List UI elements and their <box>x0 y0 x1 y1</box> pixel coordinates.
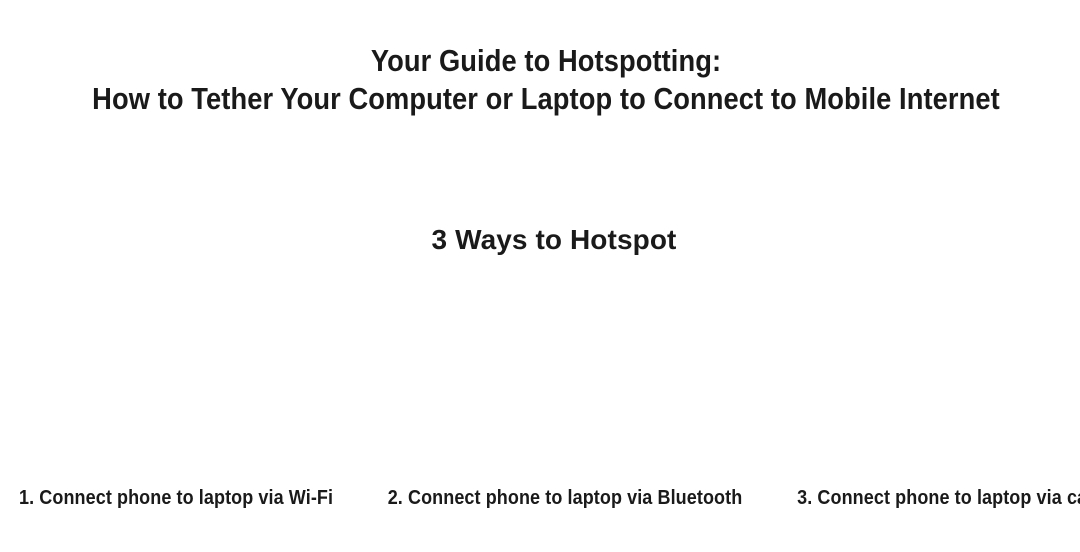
illustration-cell-cable <box>720 280 1080 480</box>
method-caption-wifi: 1. Connect phone to laptop via Wi-Fi <box>19 486 333 510</box>
method-caption-bluetooth: 2. Connect phone to laptop via Bluetooth <box>388 486 743 510</box>
caption-cell-1: 1. Connect phone to laptop via Wi-Fi <box>0 486 368 510</box>
page-title: Your Guide to Hotspotting: How to Tether… <box>0 42 1080 118</box>
page-title-line-1: Your Guide to Hotspotting: <box>66 42 1027 80</box>
caption-cell-2: 2. Connect phone to laptop via Bluetooth <box>368 486 762 510</box>
illustration-cell-wifi <box>0 280 360 480</box>
page-title-line-2: How to Tether Your Computer or Laptop to… <box>66 80 1027 118</box>
method-caption-cable: 3. Connect phone to laptop via cable <box>797 486 1080 510</box>
image-placeholder-cable <box>720 280 1080 480</box>
section-subtitle: 3 Ways to Hotspot <box>0 222 1080 258</box>
article-page: Your Guide to Hotspotting: How to Tether… <box>0 0 1080 552</box>
image-placeholder-wifi <box>0 280 360 480</box>
illustration-row <box>0 280 1080 480</box>
caption-cell-3: 3. Connect phone to laptop via cable <box>762 486 1080 510</box>
illustration-cell-bluetooth <box>360 280 720 480</box>
image-placeholder-bluetooth <box>360 280 720 480</box>
caption-row: 1. Connect phone to laptop via Wi-Fi 2. … <box>0 486 1080 516</box>
